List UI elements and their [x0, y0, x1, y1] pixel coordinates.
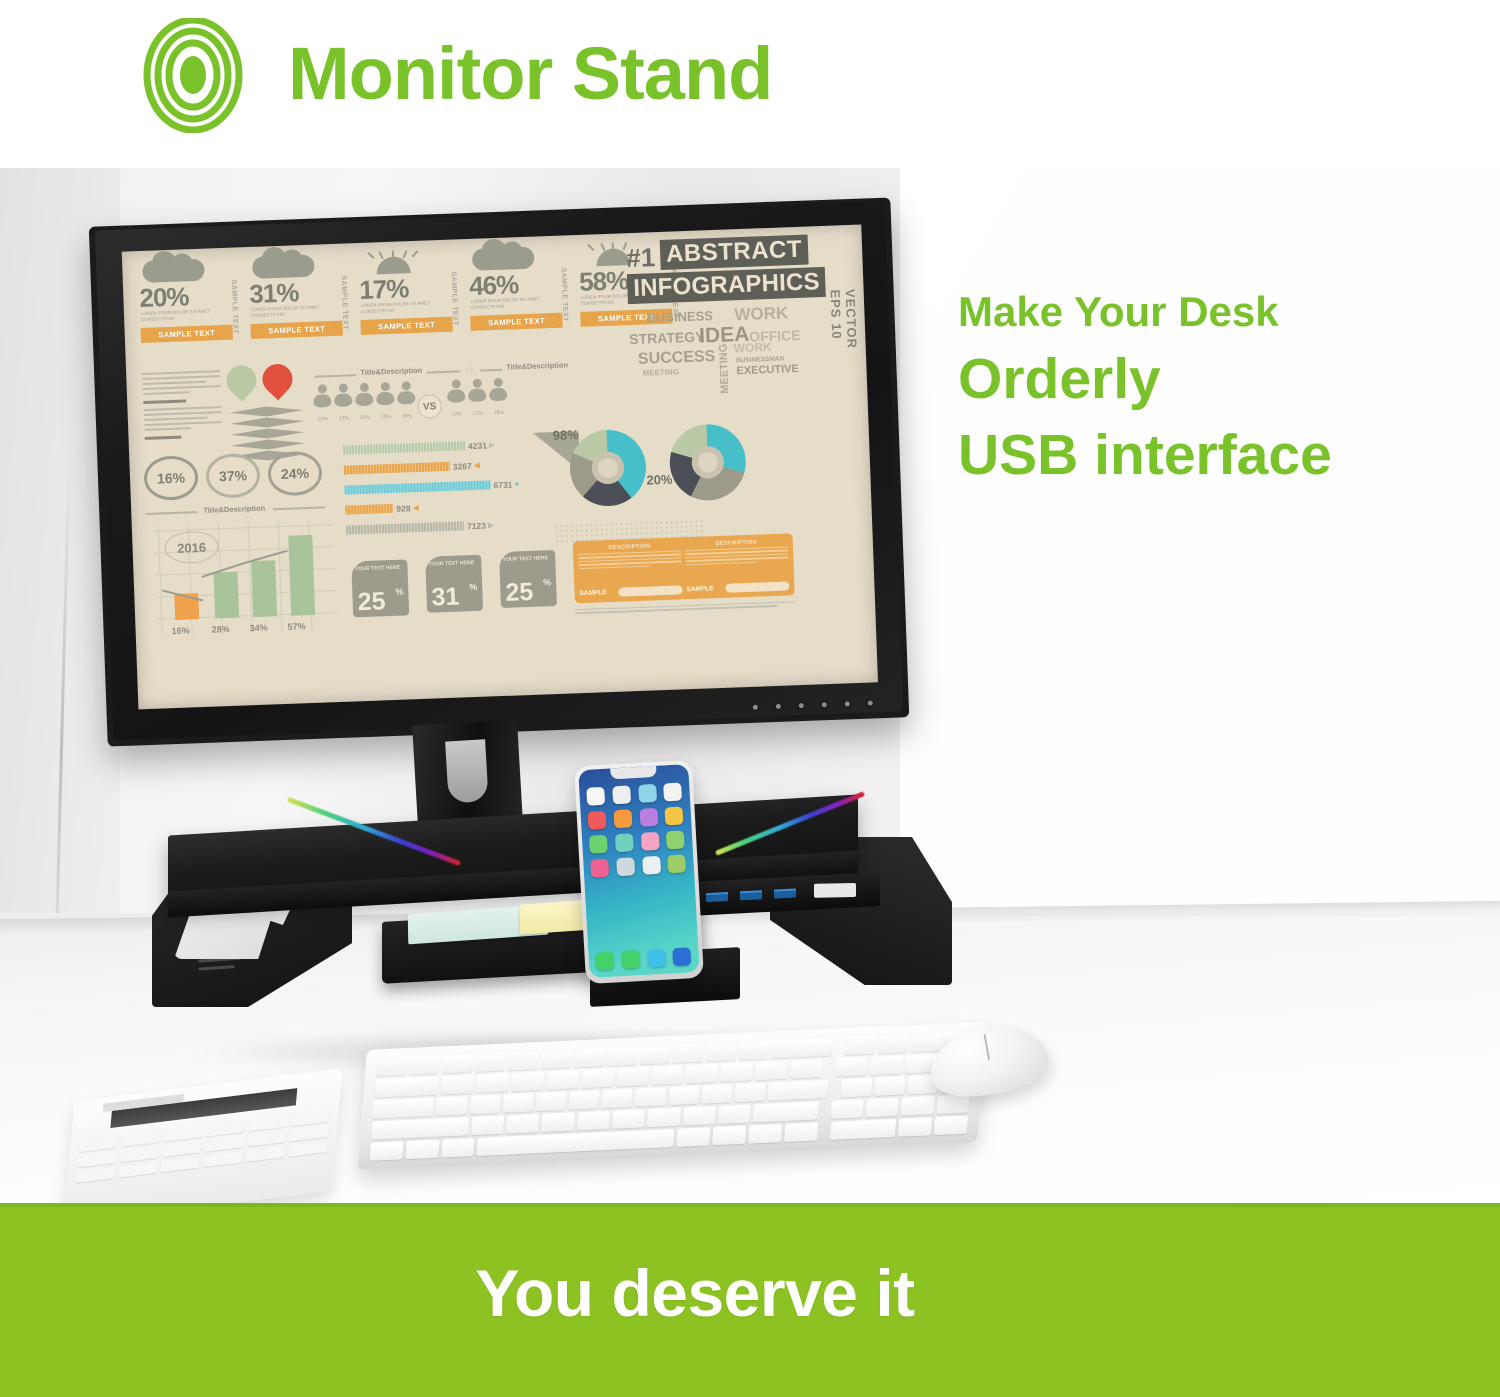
usb-port[interactable]: [706, 892, 728, 902]
bar: [251, 560, 277, 617]
word-cloud-item: MEETING: [717, 343, 731, 394]
app-icon: [666, 830, 685, 849]
circle-stat: 37%: [205, 453, 261, 499]
donut-label: 98%: [552, 427, 579, 443]
headline-infographics: INFOGRAPHICS: [633, 269, 820, 302]
app-icon: [613, 809, 632, 828]
app-icon: [663, 782, 682, 801]
hbar-row: 4231 ▶: [343, 437, 529, 457]
your-text-box: YOUR TEXT HERE 25 %: [499, 550, 557, 608]
app-icon: [588, 811, 607, 830]
person-icon: 17%: [334, 383, 353, 422]
person-icon: 12%: [447, 379, 466, 418]
product-photo: Make Your Desk Orderly USB interface 20%…: [0, 168, 1500, 1203]
app-icon: [589, 835, 608, 854]
word-cloud-item: BUSINESS: [646, 308, 713, 325]
your-text-value: 31: [431, 585, 460, 611]
title6-label: Title&Description: [203, 504, 265, 515]
your-text-unit: %: [543, 577, 551, 587]
divider-title: Title&Description: [360, 366, 422, 377]
smartphone[interactable]: [574, 760, 704, 984]
phone-screen[interactable]: [578, 764, 699, 978]
donut-label: 20%: [646, 472, 673, 488]
stat-subtext: LOREM IPSUM DOLOR SIT AMET CONSECTETUR: [251, 304, 323, 319]
your-text-unit: %: [469, 582, 477, 592]
title6-divider: Title&Description: [145, 502, 335, 519]
word-cloud-item: EXECUTIVE: [736, 363, 799, 377]
monitor-button[interactable]: [799, 703, 804, 708]
monitor-power-button[interactable]: [868, 700, 873, 705]
description-column: DESCRIPTION SAMPLE: [685, 538, 790, 594]
mouse-seam: [984, 1034, 990, 1060]
app-icon: [615, 833, 634, 852]
stat-card: 20% LOREM IPSUM DOLOR SIT AMET CONSECTET…: [136, 257, 244, 365]
monitor-screen: 20% LOREM IPSUM DOLOR SIT AMET CONSECTET…: [122, 225, 878, 710]
your-text-box: YOUR TEXT HERE 31 %: [425, 555, 483, 613]
screen-infographic: 20% LOREM IPSUM DOLOR SIT AMET CONSECTET…: [122, 225, 878, 710]
bar: [288, 535, 315, 616]
phone-notch: [610, 766, 657, 780]
monitor-button-row[interactable]: [753, 700, 873, 709]
person-icon: 13%: [376, 382, 395, 421]
your-text-box: YOUR TEXT HERE 25 %: [351, 559, 409, 617]
donut-chart: [668, 423, 747, 502]
messages-icon: [621, 950, 640, 969]
hbar-row: 7123 ▶: [346, 517, 532, 537]
bar-label: 57%: [287, 621, 305, 632]
bar-label: 28%: [211, 624, 229, 635]
cloud-icon: [472, 247, 535, 271]
your-text-value: 25: [505, 580, 534, 606]
infographic-text-column: [142, 370, 222, 440]
stat-card: 17% LOREM IPSUM DOLOR SIT AMET CONSECTET…: [356, 249, 464, 357]
bottom-banner: You deserve it: [0, 1203, 1500, 1397]
description-sample: SAMPLE: [686, 585, 713, 593]
word-cloud-item: WORK: [733, 340, 771, 355]
divider-title: Title&Description: [506, 360, 568, 371]
app-icon: [667, 854, 686, 873]
person-icon: 20%: [355, 383, 374, 422]
red-shield-icon: [262, 364, 293, 401]
marketing-line-2: Orderly: [958, 341, 1488, 417]
app-icon: [612, 785, 631, 804]
description-sample: SAMPLE: [579, 589, 606, 597]
star-icon: ☆: [464, 363, 475, 377]
card-reader-slot[interactable]: [814, 883, 856, 898]
app-icon: [665, 806, 684, 825]
circle-stat-row: 16% 37% 24%: [143, 451, 322, 501]
hbar-value: 3267: [453, 460, 472, 471]
marketing-copy: Make Your Desk Orderly USB interface: [958, 283, 1488, 493]
headline-number: #1: [626, 244, 656, 271]
hbar-value: 928: [396, 503, 411, 514]
phone-app-grid: [586, 782, 687, 877]
monitor-stand-riser: [150, 793, 890, 1053]
your-text-unit: %: [395, 587, 403, 597]
monitor-button[interactable]: [822, 702, 827, 707]
cloud-icon: [142, 259, 205, 283]
sun-icon: [366, 249, 419, 275]
app-icon: [590, 859, 609, 878]
person-icon: 19%: [489, 378, 508, 417]
usb-port[interactable]: [774, 888, 796, 898]
person-icon: 26%: [397, 381, 416, 420]
monitor-bezel: 20% LOREM IPSUM DOLOR SIT AMET CONSECTET…: [95, 202, 903, 741]
app-icon: [642, 856, 661, 875]
circle-stat: 16%: [143, 455, 199, 501]
stat-card: 31% LOREM IPSUM DOLOR SIT AMET CONSECTET…: [246, 253, 354, 361]
stat-subtext: LOREM IPSUM DOLOR SIT AMET CONSECTETUR: [361, 300, 433, 315]
vector-eps-label: VECTOR EPS 10: [828, 289, 861, 374]
person-icon: 17%: [468, 378, 487, 417]
monitor-button[interactable]: [776, 704, 781, 709]
hbar-value: 7123: [467, 520, 486, 531]
app-icon: [586, 787, 605, 806]
circle-stat: 24%: [267, 451, 323, 497]
your-text-label: YOUR TEXT HERE: [351, 565, 403, 573]
hbar-row: 928 ◀: [345, 497, 531, 517]
donut-chart: [569, 429, 648, 508]
hbar-row: 3267 ◀: [344, 457, 530, 477]
page-header: Monitor Stand: [0, 0, 1500, 170]
marketing-line-3: USB interface: [958, 417, 1488, 493]
stat-tag: SAMPLE TEXT: [141, 325, 233, 343]
stat-subtext: LOREM IPSUM DOLOR SIT AMET CONSECTETUR: [471, 296, 543, 311]
hbar-row: 6731 ●: [344, 477, 530, 497]
app-icon: [616, 857, 635, 876]
app-icon: [639, 808, 658, 827]
page-title: Monitor Stand: [288, 24, 772, 124]
marketing-line-1: Make Your Desk: [958, 283, 1488, 341]
stat-subtext: LOREM IPSUM DOLOR SIT AMET CONSECTETUR: [141, 308, 213, 323]
phone-dock: [595, 947, 692, 970]
camera-icon: [673, 947, 692, 966]
hbar-value: 6731: [493, 479, 512, 490]
cloud-icon: [252, 255, 315, 279]
bar-label: 16%: [171, 625, 189, 636]
your-text-label: YOUR TEXT HERE: [425, 560, 477, 568]
concentric-rings-logo-icon: [143, 18, 243, 133]
bar-label: 34%: [249, 623, 267, 634]
horizontal-bar-chart: 4231 ▶ 3267 ◀ 6731 ●: [343, 437, 533, 544]
your-text-value: 25: [357, 589, 386, 615]
hbar-value: 4231: [468, 440, 487, 451]
word-cloud: BUSINESS WORK STRATEGY IDEA OFFICE SUCCE…: [628, 301, 844, 381]
word-cloud-item: STRATEGY: [629, 328, 705, 347]
stat-card: 46% LOREM IPSUM DOLOR SIT AMET CONSECTET…: [466, 245, 574, 353]
bar: [214, 572, 240, 619]
app-icon: [640, 832, 659, 851]
monitor: 20% LOREM IPSUM DOLOR SIT AMET CONSECTET…: [95, 202, 903, 741]
stat-tag: SAMPLE TEXT: [250, 321, 342, 339]
stat-tag: SAMPLE TEXT: [360, 317, 452, 335]
description-panel: DESCRIPTION SAMPLE DESCRIPTION SAMPLE: [573, 533, 795, 603]
banner-tagline: You deserve it: [0, 1255, 1500, 1331]
monitor-button[interactable]: [845, 701, 850, 706]
browser-icon: [647, 949, 666, 968]
monitor-button[interactable]: [753, 705, 758, 710]
your-text-label: YOUR TEXT HERE: [499, 555, 551, 563]
usb-port[interactable]: [740, 890, 762, 900]
footer-tick-row: ······: [152, 674, 866, 706]
app-icon: [638, 784, 657, 803]
headline-abstract: ABSTRACT: [666, 237, 803, 268]
person-icon: 23%: [313, 384, 332, 423]
word-cloud-item: MEETING: [642, 367, 679, 377]
people-icon-row: 23% 17% 20% 13% 26% 12% 17% 19%: [313, 378, 508, 423]
stat-tag: SAMPLE TEXT: [470, 313, 562, 331]
green-shield-icon: [226, 365, 257, 402]
description-column: DESCRIPTION SAMPLE: [578, 542, 683, 598]
phone-icon: [595, 952, 614, 971]
infographic-footer: [575, 601, 795, 616]
